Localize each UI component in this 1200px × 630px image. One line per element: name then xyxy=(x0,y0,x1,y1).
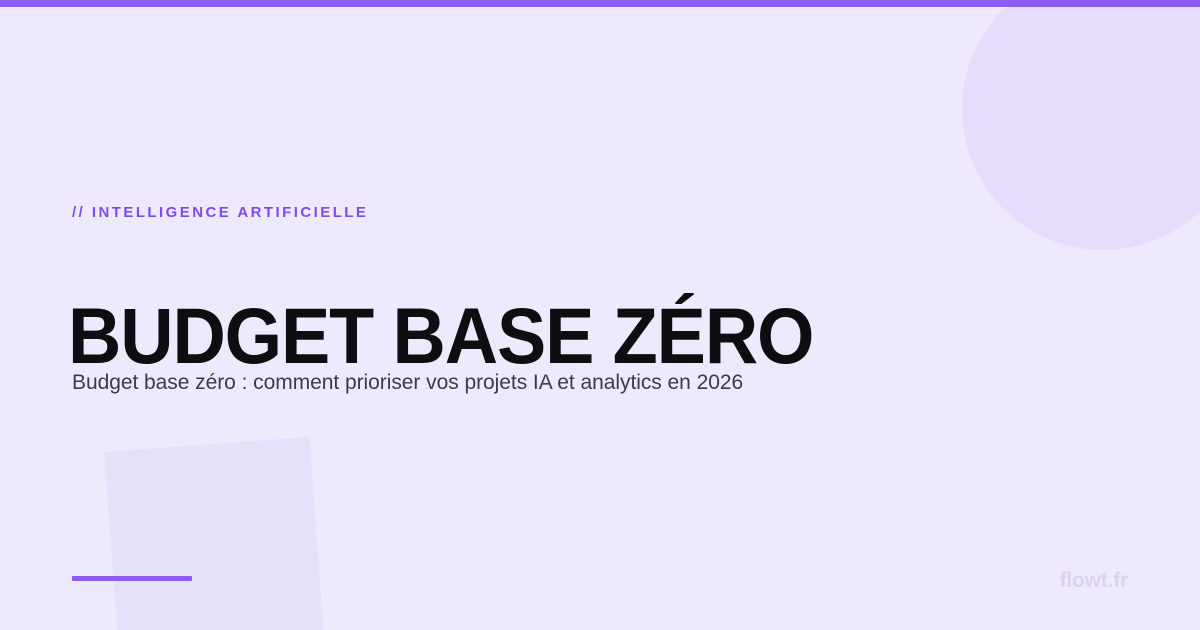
category-eyebrow: // INTELLIGENCE ARTIFICIELLE xyxy=(72,203,368,223)
og-card: // INTELLIGENCE ARTIFICIELLE BUDGET BASE… xyxy=(0,0,1200,630)
brand-watermark: flowt.fr xyxy=(1060,568,1128,594)
page-title: BUDGET BASE ZÉRO xyxy=(68,293,813,379)
hero-content: // INTELLIGENCE ARTIFICIELLE BUDGET BASE… xyxy=(72,0,1128,630)
accent-underline xyxy=(72,576,192,581)
page-subtitle: Budget base zéro : comment prioriser vos… xyxy=(72,369,743,397)
